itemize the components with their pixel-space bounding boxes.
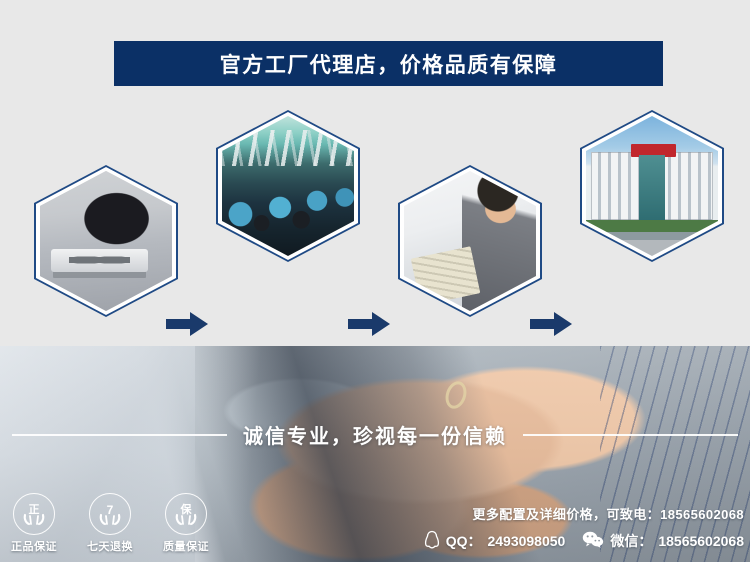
badge-label: 质量保证 [158,538,214,554]
hands-holding-seven-day-icon: 7 [89,493,131,535]
im-line: QQ：2493098050 微信：18565602068 [424,530,744,552]
trust-promise-section: 诚信专业，珍视每一份信赖 正 正品保证 [0,346,750,562]
qq-penguin-icon [424,530,440,552]
process-step-2 [216,110,360,262]
phone-line: 更多配置及详细价格，可致电：18565602068 [424,504,744,523]
process-step-4 [580,110,724,262]
bottom-white-strip [0,562,750,576]
phone-number: 18565602068 [660,507,744,522]
guarantee-badge: 正 正品保证 [6,493,62,554]
wechat-icon [582,531,604,551]
promo-banner-page: 官方工厂代理店，价格品质有保障 [0,0,750,576]
contact-block: 更多配置及详细价格，可致电：18565602068 QQ：2493098050 [424,504,744,552]
hands-holding-quality-icon: 保 [165,493,207,535]
headline-banner: 官方工厂代理店，价格品质有保障 [114,41,663,86]
arrow-right-icon [166,311,208,337]
arrow-right-icon [348,311,390,337]
page-title: 官方工厂代理店，价格品质有保障 [220,49,558,79]
badge-label: 七天退换 [82,538,138,554]
svg-text:正: 正 [29,503,40,516]
contact-prompt: 更多配置及详细价格，可致电： [472,507,660,522]
process-step-3 [398,165,542,317]
process-steps-row [0,95,750,335]
qq-number: 2493098050 [487,533,565,549]
svg-text:保: 保 [180,502,193,516]
wechat-label: 微信： [610,531,652,551]
process-step-1 [34,165,178,317]
top-process-section: 官方工厂代理店，价格品质有保障 [0,0,750,346]
tagline-row: 诚信专业，珍视每一份信赖 [0,420,750,449]
tagline-rule-right [523,434,738,436]
badge-label: 正品保证 [6,538,62,554]
svg-text:7: 7 [107,503,114,517]
guarantee-badge: 保 质量保证 [158,493,214,554]
guarantee-badge: 7 七天退换 [82,493,138,554]
guarantee-badges: 正 正品保证 7 [6,493,214,554]
arrow-right-icon [530,311,572,337]
tagline: 诚信专业，珍视每一份信赖 [243,420,507,449]
hands-holding-authentic-icon: 正 [13,493,55,535]
wechat-number: 18565602068 [658,533,744,549]
qq-label: QQ： [446,531,482,551]
tagline-rule-left [12,434,227,436]
building-glass-facade [639,155,665,219]
